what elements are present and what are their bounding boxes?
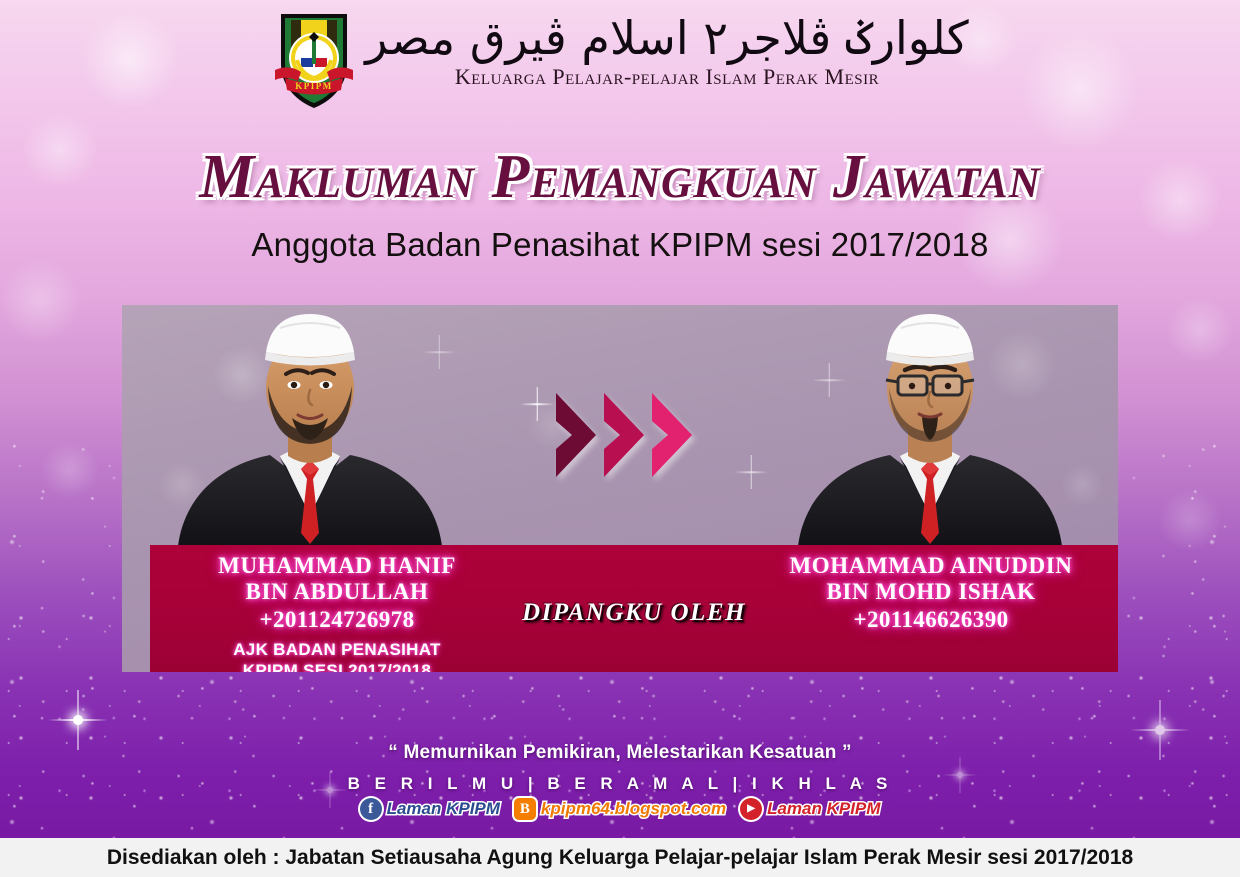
facebook-icon[interactable]: f: [360, 798, 382, 820]
incoming-phone[interactable]: +201146626390: [766, 606, 1096, 634]
youtube-icon[interactable]: ▶: [740, 798, 762, 820]
social-facebook[interactable]: f Laman KPIPM: [360, 798, 500, 820]
organisation-title-block: كلوارݢ ڤلاجر٢ اسلام ڤيرق مصر Keluarga Pe…: [365, 8, 968, 90]
incoming-name-line2: BIN MOHD ISHAK: [766, 579, 1096, 605]
motto: B E R I L M U | B E R A M A L | I K H L …: [0, 774, 1240, 794]
outgoing-role-line2: KPIPM SESI 2017/2018: [172, 660, 502, 672]
facebook-label[interactable]: Laman KPIPM: [387, 799, 500, 819]
outgoing-name-line1: MUHAMMAD HANIF: [172, 553, 502, 579]
page-title: Makluman Pemangkuan Jawatan: [0, 142, 1240, 213]
poster-root: KPIPM كلوارݢ ڤلاجر٢ اسلام ڤيرق مصر Kelua…: [0, 0, 1240, 877]
credit-bar: Disediakan oleh : Jabatan Setiausaha Agu…: [0, 838, 1240, 877]
sparkle-icon: [520, 387, 554, 421]
tagline: “ Memurnikan Pemikiran, Melestarikan Kes…: [0, 742, 1240, 764]
blogger-icon[interactable]: B: [514, 798, 536, 820]
kpipm-crest-icon: KPIPM: [271, 8, 357, 112]
blogger-label[interactable]: kpipm64.blogspot.com: [541, 799, 726, 819]
social-youtube[interactable]: ▶ Laman KPIPM: [740, 798, 880, 820]
incoming-person-details: MOHAMMAD AINUDDIN BIN MOHD ISHAK +201146…: [766, 553, 1096, 633]
outgoing-role-line1: AJK BADAN PENASIHAT: [172, 639, 502, 660]
header: KPIPM كلوارݢ ڤلاجر٢ اسلام ڤيرق مصر Kelua…: [0, 8, 1240, 112]
chevron-1: [552, 391, 604, 479]
sparkle-icon: [734, 455, 768, 489]
page-subtitle: Anggota Badan Penasihat KPIPM sesi 2017/…: [0, 226, 1240, 264]
names-banner: MUHAMMAD HANIF BIN ABDULLAH +20112472697…: [150, 545, 1118, 672]
double-chevron-right-icon: [552, 390, 712, 480]
social-blogger[interactable]: B kpipm64.blogspot.com: [514, 798, 726, 820]
portrait-outgoing: [160, 310, 460, 546]
portrait-incoming: [780, 310, 1080, 546]
credit-text: Disediakan oleh : Jabatan Setiausaha Agu…: [107, 846, 1133, 870]
jawi-title: كلوارݢ ڤلاجر٢ اسلام ڤيرق مصر: [365, 14, 968, 62]
youtube-label[interactable]: Laman KPIPM: [767, 799, 880, 819]
chevron-3: [648, 391, 700, 479]
incoming-name-line1: MOHAMMAD AINUDDIN: [766, 553, 1096, 579]
social-links: f Laman KPIPM B kpipm64.blogspot.com ▶ L…: [0, 798, 1240, 820]
crest-ribbon-label: KPIPM: [296, 81, 334, 91]
chevron-2: [600, 391, 652, 479]
organisation-name: Keluarga Pelajar-pelajar Islam Perak Mes…: [365, 64, 968, 90]
